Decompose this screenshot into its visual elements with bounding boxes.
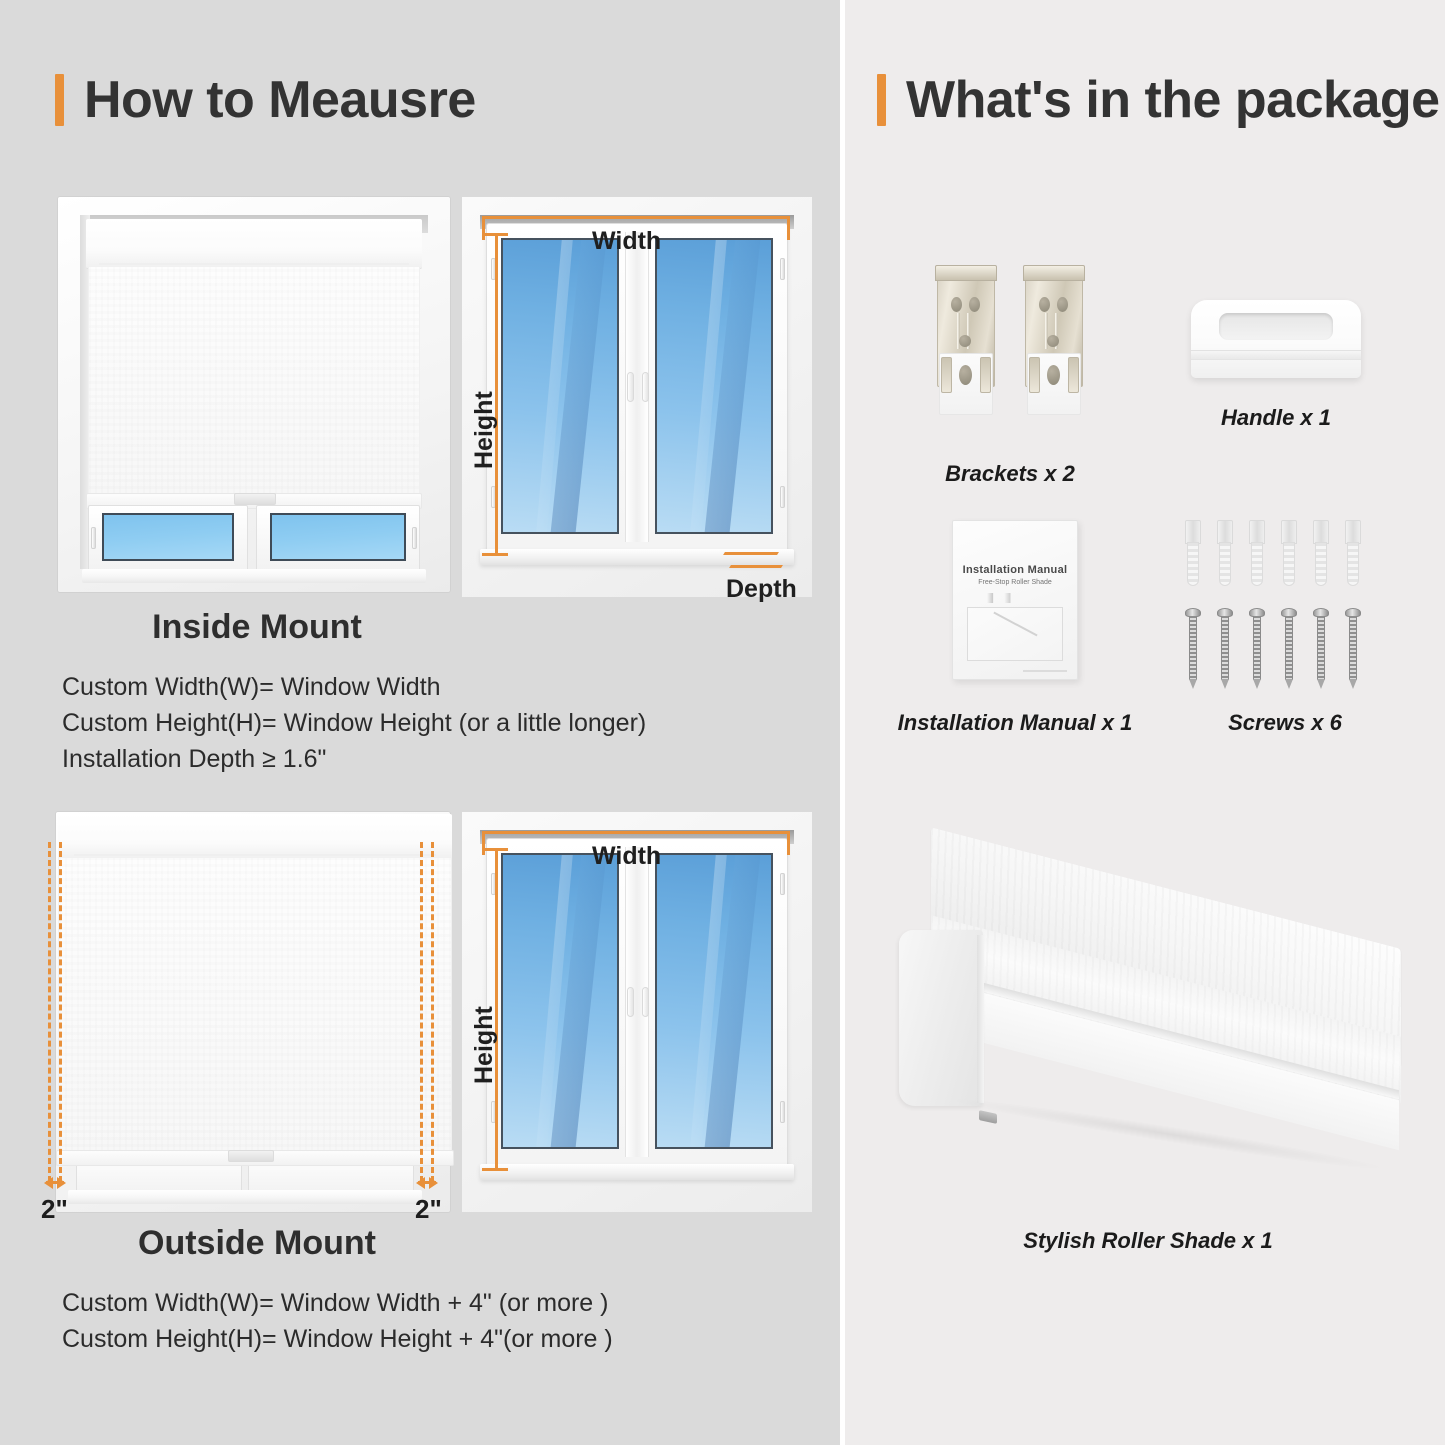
outside-shade-valance — [58, 814, 452, 860]
frame-hinge-top-right-icon — [780, 873, 785, 895]
bracket-hole-icon — [951, 297, 962, 312]
anchor-body — [1251, 542, 1263, 586]
accent-bar-icon — [55, 74, 64, 126]
brackets-label: Brackets x 2 — [885, 461, 1135, 487]
sash-hinge-left-icon — [91, 527, 96, 549]
window-sill — [82, 569, 426, 583]
frame-hinge-top-right-icon — [780, 258, 785, 280]
package-contents-panel: What's in the package — [845, 0, 1445, 1445]
package-item-brackets: Brackets x 2 — [885, 265, 1135, 495]
overhang-label-left: 2" — [41, 1194, 68, 1225]
outside-shade-pull-tab — [228, 1150, 274, 1162]
outside-mount-line-1: Custom Width(W)= Window Width + 4" (or m… — [62, 1285, 762, 1321]
handle-lip — [1191, 350, 1361, 360]
wall-anchor-icon — [1281, 520, 1297, 586]
overhang-dash-left-inner — [59, 842, 62, 1182]
depth-marker-line — [723, 552, 779, 555]
outside-measure-pane-right — [655, 853, 773, 1149]
outside-shade-fabric — [58, 858, 452, 1154]
shade-end-cap-edge — [977, 935, 984, 1103]
screw-single-icon — [1217, 608, 1233, 688]
anchor-head — [1185, 520, 1201, 544]
arrow-head-right-icon — [429, 1177, 438, 1189]
height-marker-tick-bottom — [482, 553, 508, 556]
window-handle-left-icon — [627, 372, 634, 402]
outside-width-label: Width — [592, 842, 661, 871]
manual-cover-figure-box — [967, 607, 1063, 661]
handle-icon — [1191, 300, 1361, 378]
width-marker-line — [482, 216, 790, 219]
overhang-arrow-right — [416, 1176, 438, 1190]
window-glass-left — [102, 513, 234, 561]
overhang-dash-right-outer — [431, 842, 434, 1182]
outside-window-frame — [486, 838, 788, 1168]
arrow-head-right-icon — [57, 1177, 66, 1189]
screw-tip — [1285, 679, 1293, 689]
outside-width-marker-tick-right — [787, 831, 790, 855]
outside-mount-measure-figure: Width Height — [462, 812, 812, 1212]
screw-single-icon — [1281, 608, 1297, 688]
height-label: Height — [470, 391, 499, 469]
bracket-slot-icon — [1029, 357, 1040, 393]
outside-mount-shade-figure: 2" 2" — [30, 812, 450, 1212]
shade-end-cap — [899, 930, 983, 1106]
shade-pull-tab — [234, 493, 276, 505]
left-heading-text: How to Meausre — [84, 74, 476, 126]
overhang-dash-left-outer — [48, 842, 51, 1182]
bracket-hole-icon — [1039, 297, 1050, 312]
inside-mount-lines: Custom Width(W)= Window Width Custom Hei… — [62, 669, 762, 777]
bracket-icon — [937, 265, 995, 415]
inside-mount-text-block: Inside Mount Custom Width(W)= Window Wid… — [62, 608, 762, 777]
screw-single-icon — [1345, 608, 1361, 688]
bracket-icon — [1025, 265, 1083, 415]
roller-shade-icon — [893, 880, 1393, 1190]
arrow-head-left-icon — [416, 1177, 425, 1189]
how-to-measure-panel: How to Meausre — [0, 0, 840, 1445]
anchor-body — [1283, 542, 1295, 586]
manual-icon: Installation Manual Free-Stop Roller Sha… — [952, 520, 1078, 680]
arrow-head-left-icon — [44, 1177, 53, 1189]
shade-fabric — [88, 267, 420, 496]
manual-cover-footer-line — [1023, 670, 1067, 672]
bracket-slot-icon — [1068, 357, 1079, 393]
wall-anchor-icon — [1249, 520, 1265, 586]
height-marker-tick-top — [482, 233, 508, 236]
width-marker-tick-left — [482, 216, 485, 240]
anchor-head — [1281, 520, 1297, 544]
bracket-slot-icon — [980, 357, 991, 393]
outside-window-sill — [68, 1190, 422, 1204]
outside-measure-pane-left — [501, 853, 619, 1149]
outside-height-marker-tick-top — [482, 848, 508, 851]
handle-grip-slot — [1219, 313, 1333, 340]
anchor-head — [1345, 520, 1361, 544]
depth-label: Depth — [726, 575, 797, 604]
manual-cover-diagram-line — [993, 611, 1037, 636]
outside-window-handle-right-icon — [642, 987, 649, 1017]
bracket-hole-icon — [969, 297, 980, 312]
anchor-head — [1217, 520, 1233, 544]
screw-single-icon — [1313, 608, 1329, 688]
package-item-roller-shade: Stylish Roller Shade x 1 — [893, 880, 1403, 1280]
outside-window-handle-left-icon — [627, 987, 634, 1017]
anchor-head — [1313, 520, 1329, 544]
anchor-body — [1315, 542, 1327, 586]
outside-height-marker-tick-bottom — [482, 1168, 508, 1171]
screw-shaft — [1317, 616, 1325, 680]
anchor-head — [1249, 520, 1265, 544]
package-item-screws: Screws x 6 — [1145, 520, 1425, 750]
anchor-body — [1219, 542, 1231, 586]
wall-anchor-icon — [1313, 520, 1329, 586]
screw-shaft — [1349, 616, 1357, 680]
inside-mount-line-1: Custom Width(W)= Window Width — [62, 669, 762, 705]
outside-measure-window-sill — [480, 1164, 794, 1180]
bracket-slot-icon — [941, 357, 952, 393]
outside-mount-lines: Custom Width(W)= Window Width + 4" (or m… — [62, 1285, 762, 1357]
handle-label: Handle x 1 — [1145, 405, 1407, 431]
window-frame — [486, 223, 788, 553]
outside-mount-title: Outside Mount — [62, 1224, 452, 1263]
right-heading-text: What's in the package — [906, 74, 1440, 126]
wall-anchor-icon — [1345, 520, 1361, 586]
screw-shaft — [1221, 616, 1229, 680]
inside-mount-line-3: Installation Depth ≥ 1.6" — [62, 741, 762, 777]
sash-hinge-right-icon — [412, 527, 417, 549]
inside-mount-title: Inside Mount — [62, 608, 452, 647]
screw-icon — [1185, 520, 1385, 692]
overhang-arrow-left — [44, 1176, 66, 1190]
roller-shade-label: Stylish Roller Shade x 1 — [893, 1228, 1403, 1254]
inside-mount-line-2: Custom Height(H)= Window Height (or a li… — [62, 705, 762, 741]
bracket-center-hole-icon — [1047, 335, 1059, 347]
bracket-hole-icon — [1057, 297, 1068, 312]
overhang-dash-right-inner — [420, 842, 423, 1182]
outside-mount-line-2: Custom Height(H)= Window Height + 4"(or … — [62, 1321, 762, 1357]
bracket-screw-hole-icon — [959, 365, 972, 385]
screw-tip — [1349, 679, 1357, 689]
bracket-top-flange — [1023, 265, 1085, 281]
screw-shaft — [1189, 616, 1197, 680]
wall-anchor-icon — [1217, 520, 1233, 586]
screw-tip — [1317, 679, 1325, 689]
window-handle-right-icon — [642, 372, 649, 402]
bracket-top-flange — [935, 265, 997, 281]
bracket-screw-hole-icon — [1047, 365, 1060, 385]
left-panel-heading: How to Meausre — [55, 74, 476, 126]
screw-tip — [1189, 679, 1197, 689]
inside-mount-measure-figure: Width Height Depth — [462, 197, 812, 597]
manual-cover-subtitle: Free-Stop Roller Shade — [953, 579, 1077, 586]
screw-shaft — [1253, 616, 1261, 680]
accent-bar-icon — [877, 74, 886, 126]
screw-tip — [1221, 679, 1229, 689]
outside-height-label: Height — [470, 1006, 499, 1084]
width-marker-tick-right — [787, 216, 790, 240]
window-glass-right — [270, 513, 406, 561]
outside-width-marker-tick-left — [482, 831, 485, 855]
manual-cover-scribble — [987, 593, 1045, 603]
inside-mount-shade-figure — [58, 197, 450, 592]
frame-hinge-bottom-right-icon — [780, 486, 785, 508]
overhang-label-right: 2" — [415, 1194, 442, 1225]
screw-single-icon — [1185, 608, 1201, 688]
right-panel-heading: What's in the package — [877, 74, 1440, 126]
width-label: Width — [592, 227, 661, 256]
screw-tip — [1253, 679, 1261, 689]
manual-cover: Installation Manual Free-Stop Roller Sha… — [952, 520, 1078, 680]
measure-pane-left — [501, 238, 619, 534]
manual-cover-title: Installation Manual — [953, 564, 1077, 576]
package-item-handle: Handle x 1 — [1145, 300, 1407, 450]
outside-width-marker-line — [482, 831, 790, 834]
screw-shaft — [1285, 616, 1293, 680]
anchor-body — [1187, 542, 1199, 586]
frame-hinge-bottom-right-icon — [780, 1101, 785, 1123]
measure-pane-right — [655, 238, 773, 534]
depth-marker-line-2 — [729, 565, 783, 568]
package-item-manual: Installation Manual Free-Stop Roller Sha… — [865, 520, 1165, 750]
manual-label: Installation Manual x 1 — [865, 710, 1165, 736]
screws-label: Screws x 6 — [1145, 710, 1425, 736]
bracket-center-hole-icon — [959, 335, 971, 347]
outside-mount-text-block: Outside Mount Custom Width(W)= Window Wi… — [62, 1224, 762, 1357]
shade-valance — [86, 219, 422, 269]
screw-single-icon — [1249, 608, 1265, 688]
infographic-root: How to Meausre — [0, 0, 1445, 1445]
anchor-body — [1347, 542, 1359, 586]
wall-anchor-icon — [1185, 520, 1201, 586]
